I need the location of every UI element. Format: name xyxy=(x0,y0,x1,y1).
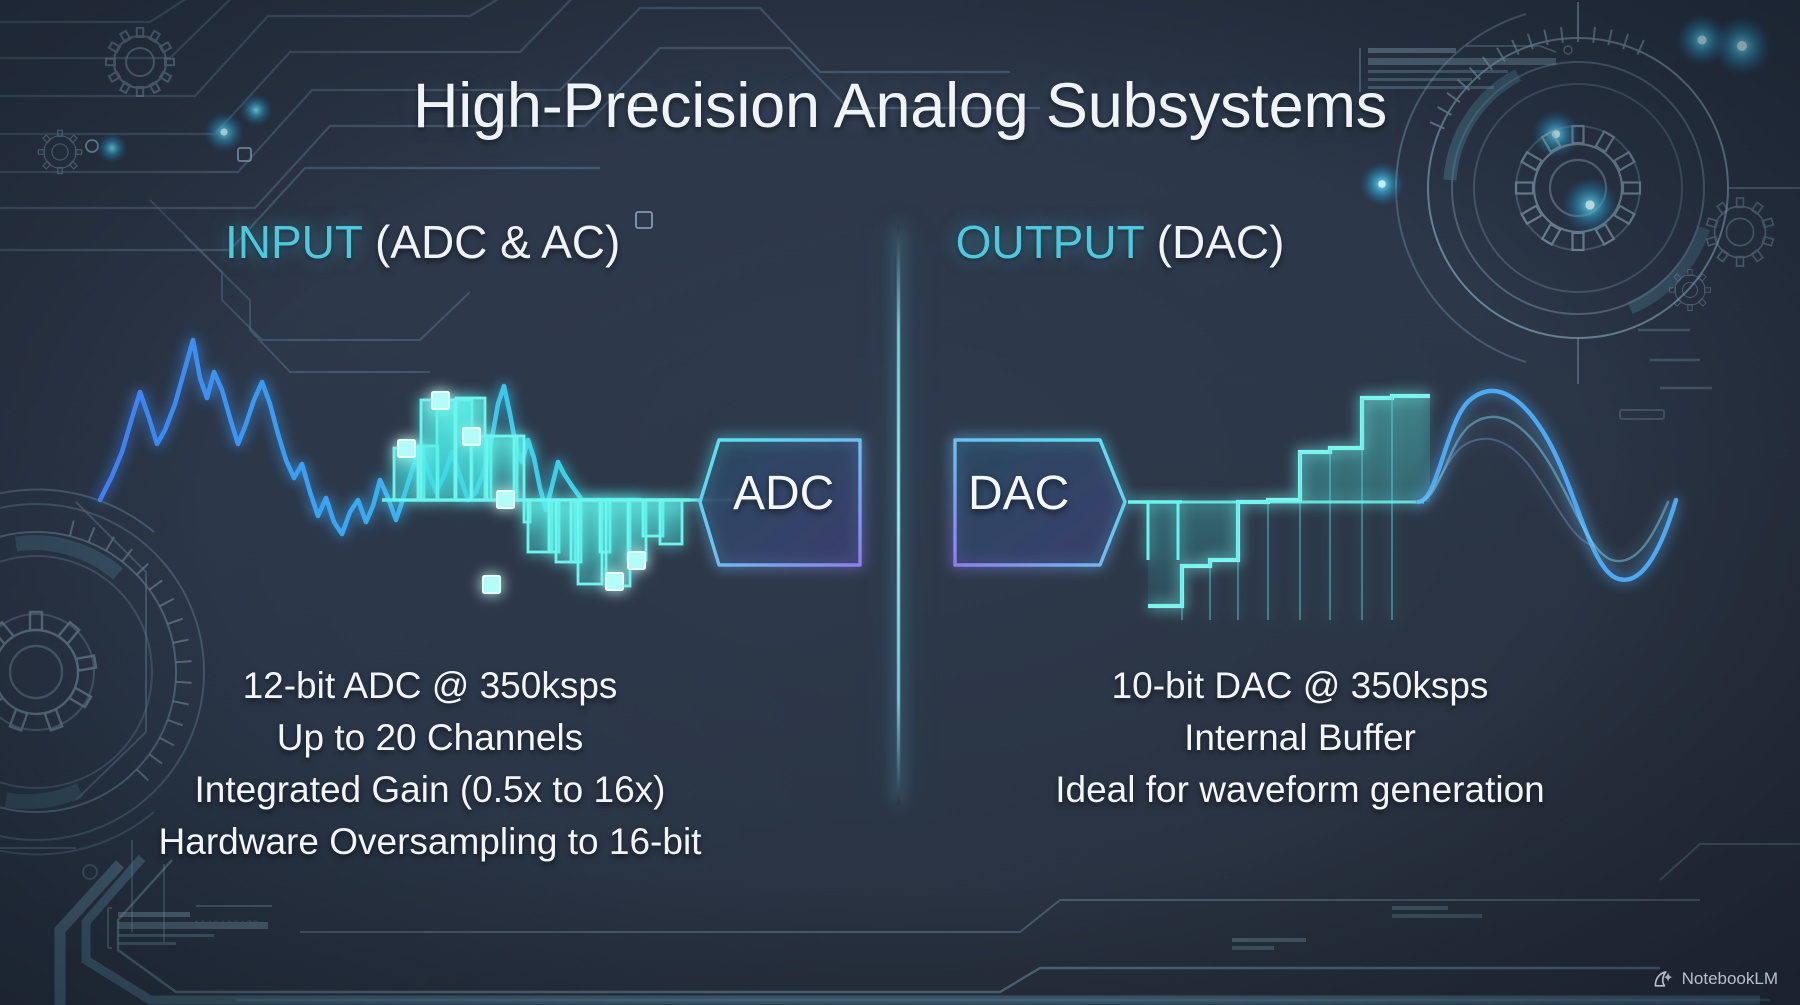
list-item: Hardware Oversampling to 16-bit xyxy=(159,816,702,868)
gear-icon-group-right xyxy=(1620,198,1773,419)
list-item: 12-bit ADC @ 350ksps xyxy=(159,660,702,712)
hud-corner-frame xyxy=(60,844,1800,1005)
heading-keyword-input: INPUT xyxy=(225,216,362,268)
section-heading-input: INPUT (ADC & AC) xyxy=(225,215,620,269)
hud-readout-bottom-center xyxy=(1232,906,1482,950)
center-divider xyxy=(897,225,900,805)
hud-readout-bottom-left: 1010100100 xyxy=(108,906,272,948)
page-title: High-Precision Analog Subsystems xyxy=(0,70,1800,142)
list-item: Integrated Gain (0.5x to 16x) xyxy=(159,764,702,816)
heading-rest-output: (DAC) xyxy=(1144,216,1285,268)
list-item: Internal Buffer xyxy=(1055,712,1545,764)
analog-input-waveform xyxy=(100,340,640,534)
svg-text:1010100100: 1010100100 xyxy=(193,920,259,932)
list-item: Up to 20 Channels xyxy=(159,712,702,764)
slide-canvas: 1010100100 High-Precision Analog Subsyst… xyxy=(0,0,1800,1005)
notebooklm-spark-icon xyxy=(1653,969,1675,989)
dac-output-staircase xyxy=(1128,396,1430,620)
heading-rest-input: (ADC & AC) xyxy=(362,216,620,268)
hud-radial-dial-top-right xyxy=(1396,2,1800,384)
dac-reconstructed-sine xyxy=(1412,391,1676,580)
section-heading-output: OUTPUT (DAC) xyxy=(956,215,1285,269)
bullet-list-input: 12-bit ADC @ 350ksps Up to 20 Channels I… xyxy=(159,660,702,868)
adc-block-label: ADC xyxy=(733,466,834,521)
adc-quantized-bars xyxy=(382,392,770,593)
notebooklm-watermark: NotebookLM xyxy=(1653,969,1778,989)
heading-keyword-output: OUTPUT xyxy=(956,216,1144,268)
watermark-label: NotebookLM xyxy=(1682,969,1778,989)
bullet-list-output: 10-bit DAC @ 350ksps Internal Buffer Ide… xyxy=(1055,660,1545,816)
dac-block-label: DAC xyxy=(968,466,1069,521)
list-item: Ideal for waveform generation xyxy=(1055,764,1545,816)
list-item: 10-bit DAC @ 350ksps xyxy=(1055,660,1545,712)
